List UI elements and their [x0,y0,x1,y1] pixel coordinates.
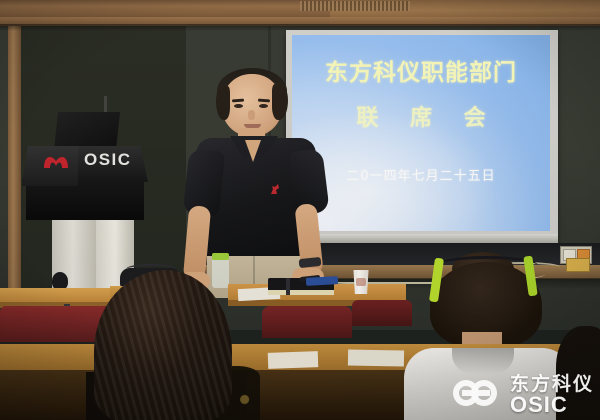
bottle-cap [212,253,229,260]
speaker-eye-right [259,104,268,108]
podium-laptop [54,112,120,150]
blue-folder [306,276,338,286]
osic-double-ring-logo-icon [448,376,504,415]
polo-horse-logo-icon [270,182,280,194]
audience-top-shadow [452,348,514,374]
door-frame-vertical [8,14,21,314]
photograph: 东方科仪职能部门 联 席 会 二0一四年七月二十五日 OSIC [0,0,600,420]
watermark-text: 东方科仪 OSIC [510,375,594,416]
chair-red [262,306,352,338]
screen-bottom-bezel [286,234,558,243]
notebook-elastic-band [286,278,290,295]
ceiling-vent [300,1,410,11]
speaker-nose [248,110,255,120]
red-m-logo-icon [42,152,70,170]
paper-sheet [348,350,404,367]
podium-brand-label: OSIC [84,150,144,172]
paper-sheet [268,351,319,369]
speaker-hair-left [216,86,230,120]
watermark: 东方科仪 OSIC [448,375,594,416]
cup-logo [356,278,366,286]
chair-red [352,300,412,326]
notebook-pages [268,290,334,295]
audience-hair-texture [94,270,232,420]
speaker-eye-left [234,104,243,108]
cable-plug [566,258,590,272]
water-bottle [212,258,229,288]
screen-glare [292,35,550,231]
watermark-en: OSIC [510,394,594,416]
